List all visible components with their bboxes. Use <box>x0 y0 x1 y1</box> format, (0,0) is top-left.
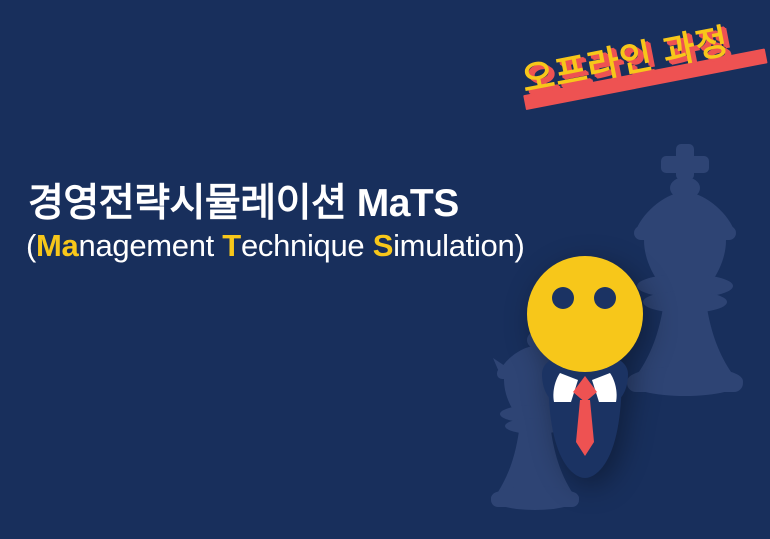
mascot-eye-left <box>552 287 574 309</box>
mascot-face <box>527 256 643 372</box>
offline-course-badge: 오프라인 과정 <box>508 0 770 134</box>
mascot-eye-right <box>594 287 616 309</box>
subtitle-text-nagement: nagement <box>79 228 223 263</box>
subtitle-text-echnique: echnique <box>241 228 373 263</box>
subtitle-highlight-s: S <box>373 228 393 263</box>
subtitle-highlight-t: T <box>222 228 241 263</box>
page-subtitle: (Management Technique Simulation) <box>26 228 524 264</box>
page-title: 경영전략시뮬레이션 MaTS <box>28 172 459 228</box>
businessman-smiley-mascot <box>470 250 700 500</box>
subtitle-open-paren: ( <box>26 228 36 263</box>
promo-banner: 오프라인 과정 경영전략시뮬레이션 MaTS (Management Techn… <box>0 0 770 539</box>
subtitle-text-imulation: imulation) <box>393 228 524 263</box>
subtitle-highlight-ma: Ma <box>36 228 78 263</box>
